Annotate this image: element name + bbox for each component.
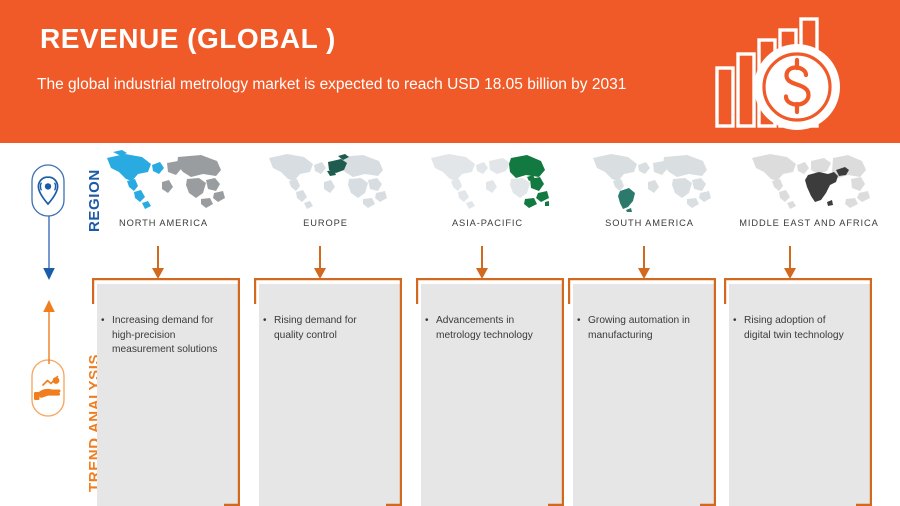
infographic-canvas: REVENUE (GLOBAL ) The global industrial … xyxy=(0,0,900,506)
region-column-asia-pacific: ASIA-PACIFIC xyxy=(420,150,555,228)
bullet-glyph: • xyxy=(425,314,429,329)
header-subtitle: The global industrial metrology market i… xyxy=(37,73,637,96)
bullet-glyph: • xyxy=(101,314,105,329)
trend-box-asia-pacific: • Advancements in metrology technology xyxy=(416,278,564,506)
world-map-asia-pacific-highlight xyxy=(420,150,555,212)
region-column-south-america: SOUTH AMERICA xyxy=(582,150,717,228)
trend-text-wrapper: • Rising demand for quality control xyxy=(274,314,382,343)
trend-text: Growing automation in manufacturing xyxy=(588,315,690,341)
trend-text-wrapper: • Increasing demand for high-precision m… xyxy=(112,314,220,358)
header-banner: REVENUE (GLOBAL ) The global industrial … xyxy=(0,0,900,143)
bar-chart-dollar-icon xyxy=(700,10,880,135)
trend-text: Advancements in metrology technology xyxy=(436,315,533,341)
trend-text: Increasing demand for high-precision mea… xyxy=(112,315,217,355)
trend-box-europe: • Rising demand for quality control xyxy=(254,278,402,506)
region-label: EUROPE xyxy=(258,218,393,228)
trend-text: Rising adoption of digital twin technolo… xyxy=(744,315,844,341)
page-title: REVENUE (GLOBAL ) xyxy=(40,23,336,55)
region-column-north-america: NORTH AMERICA xyxy=(96,150,231,228)
arrow-up-orange xyxy=(40,298,58,369)
world-map-middle-east-africa-highlight xyxy=(724,150,894,212)
bullet-glyph: • xyxy=(733,314,737,329)
region-column-europe: EUROPE xyxy=(258,150,393,228)
region-label: SOUTH AMERICA xyxy=(582,218,717,228)
region-column-middle-east-africa: MIDDLE EAST AND AFRICA xyxy=(724,150,894,228)
region-label: NORTH AMERICA xyxy=(96,218,231,228)
trend-text-wrapper: • Advancements in metrology technology xyxy=(436,314,544,343)
trend-text: Rising demand for quality control xyxy=(274,315,357,341)
trend-box-north-america: • Increasing demand for high-precision m… xyxy=(92,278,240,506)
world-map-north-america-highlight xyxy=(96,150,231,212)
trend-box-south-america: • Growing automation in manufacturing xyxy=(568,278,716,506)
location-pin-icon xyxy=(28,163,68,223)
trend-text-wrapper: • Rising adoption of digital twin techno… xyxy=(744,314,852,343)
trend-box-middle-east-africa: • Rising adoption of digital twin techno… xyxy=(724,278,872,506)
bullet-glyph: • xyxy=(577,314,581,329)
region-label: MIDDLE EAST AND AFRICA xyxy=(724,218,894,228)
trend-text-wrapper: • Growing automation in manufacturing xyxy=(588,314,696,343)
bullet-glyph: • xyxy=(263,314,267,329)
world-map-south-america-highlight xyxy=(582,150,717,212)
world-map-europe-highlight xyxy=(258,150,393,212)
arrow-down-blue xyxy=(40,216,58,287)
region-label: ASIA-PACIFIC xyxy=(420,218,555,228)
